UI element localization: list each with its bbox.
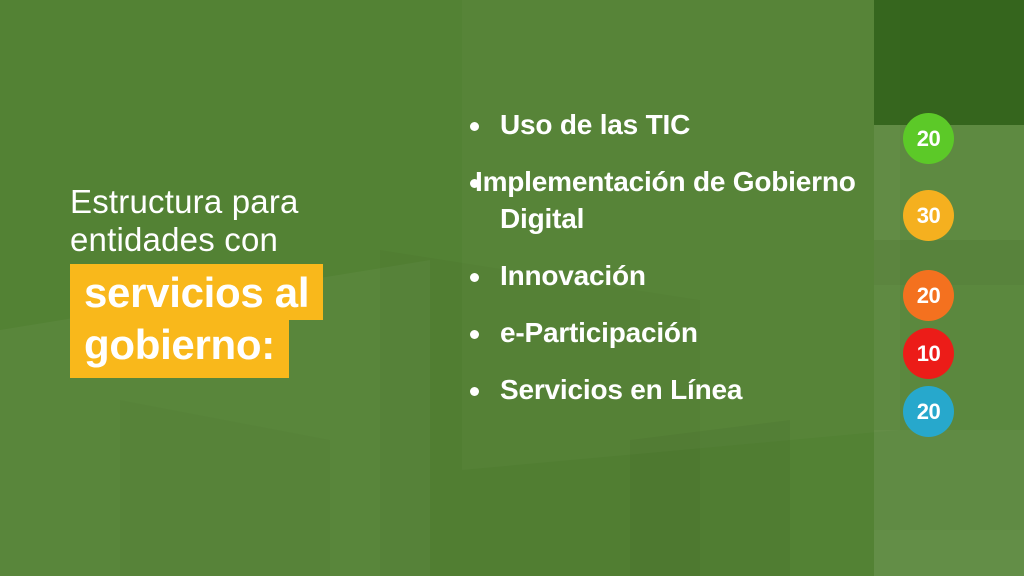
list-item: Uso de las TIC <box>470 106 870 143</box>
list-item: Servicios en Línea <box>470 371 870 408</box>
title-line-2: entidades con <box>70 221 410 259</box>
score-badge-value: 20 <box>917 399 940 425</box>
score-badge: 20 <box>903 113 954 164</box>
score-badge-value: 20 <box>917 283 940 309</box>
criteria-list: Uso de las TIC Implementación de Gobiern… <box>470 106 870 428</box>
score-badge: 10 <box>903 328 954 379</box>
list-item-label: Servicios en Línea <box>500 371 742 408</box>
list-item-label: Innovación <box>500 257 646 294</box>
presentation-slide: Estructura para entidades con servicios … <box>0 0 1024 576</box>
list-item: Implementación de Gobierno Digital <box>470 163 870 237</box>
list-item-label: Implementación de Gobierno Digital <box>500 163 870 237</box>
bullet-dot-icon <box>470 273 479 282</box>
title-highlight: servicios al gobierno: <box>70 264 410 378</box>
title-highlight-line-2: gobierno: <box>70 320 289 378</box>
bullet-dot-icon <box>470 387 479 396</box>
score-badge-column: 20 30 20 10 20 <box>903 0 963 576</box>
score-badge-value: 30 <box>917 203 940 229</box>
list-item-label: Uso de las TIC <box>500 106 690 143</box>
score-badge: 30 <box>903 190 954 241</box>
score-badge-value: 20 <box>917 126 940 152</box>
score-badge-value: 10 <box>917 341 940 367</box>
score-badge: 20 <box>903 386 954 437</box>
list-item: Innovación <box>470 257 870 294</box>
bullet-dot-icon <box>470 330 479 339</box>
title-highlight-line-1: servicios al <box>70 264 323 320</box>
bullet-dot-icon <box>470 122 479 131</box>
list-item: e-Participación <box>470 314 870 351</box>
slide-title: Estructura para entidades con servicios … <box>70 183 410 378</box>
score-badge: 20 <box>903 270 954 321</box>
title-line-1: Estructura para <box>70 183 410 221</box>
list-item-label: e-Participación <box>500 314 698 351</box>
